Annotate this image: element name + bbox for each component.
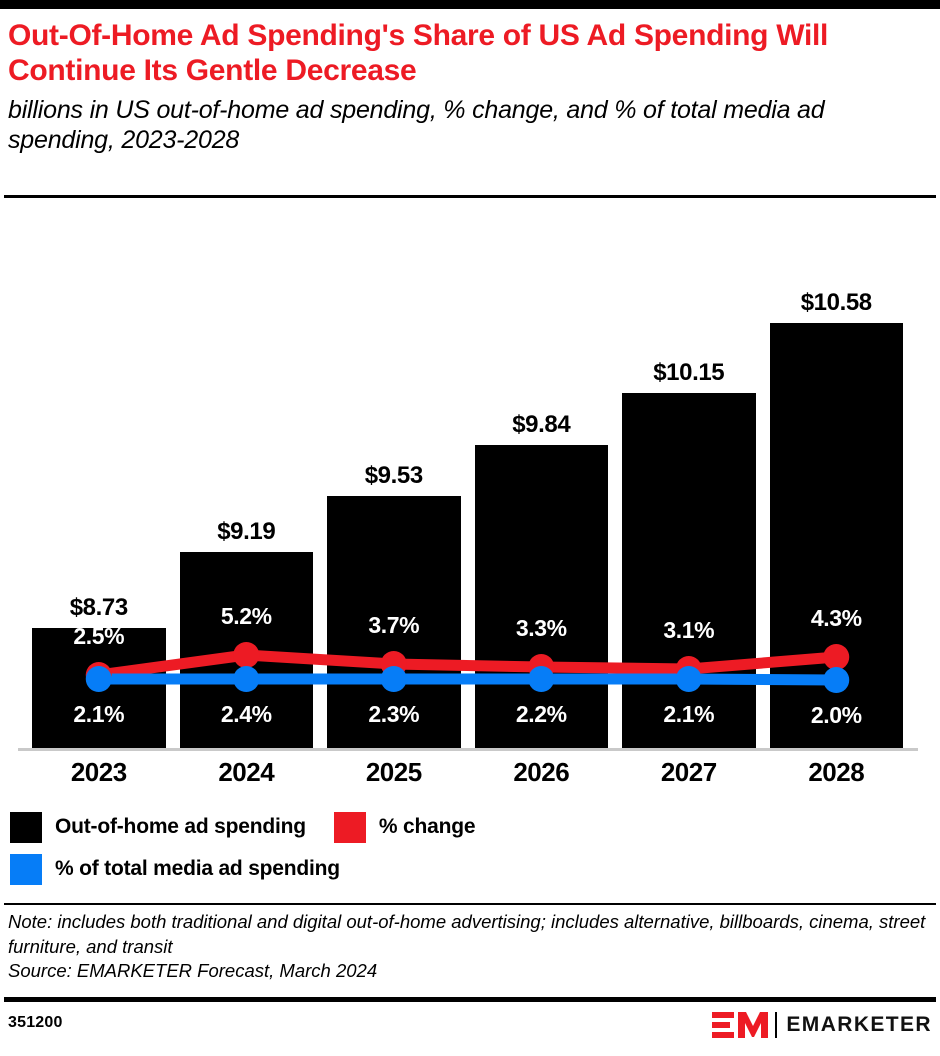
percent-change-line	[99, 655, 837, 675]
chart-footer: 351200 EMARKETER	[0, 1006, 940, 1052]
x-tick-2025: 2025	[327, 757, 461, 788]
chart-id: 351200	[8, 1014, 63, 1032]
chart-legend: Out-of-home ad spending % change % of to…	[10, 806, 930, 890]
em-logo-icon	[712, 1011, 768, 1039]
percent-of-total-point	[233, 666, 259, 692]
percent-of-total-label: 2.2%	[475, 701, 609, 728]
divider-above-footer	[4, 997, 936, 1002]
x-tick-2024: 2024	[180, 757, 314, 788]
x-tick-2026: 2026	[475, 757, 609, 788]
percent-of-total-point	[676, 666, 702, 692]
legend-row-1: Out-of-home ad spending % change	[10, 806, 930, 848]
percent-of-total-point	[381, 666, 407, 692]
divider-under-title	[4, 195, 936, 198]
page-title: Out-Of-Home Ad Spending's Share of US Ad…	[8, 18, 932, 89]
percent-of-total-point	[528, 666, 554, 692]
percent-of-total-label: 2.3%	[327, 701, 461, 728]
brand-name: EMARKETER	[786, 1013, 932, 1037]
legend-label: % of total media ad spending	[55, 857, 340, 881]
legend-label: Out-of-home ad spending	[55, 815, 306, 839]
percent-of-total-label: 2.1%	[32, 701, 166, 728]
percent-change-label: 3.1%	[622, 617, 756, 644]
x-tick-2028: 2028	[770, 757, 904, 788]
percent-change-label: 3.3%	[475, 615, 609, 642]
chart-notes: Note: includes both traditional and digi…	[8, 910, 932, 984]
divider-above-notes	[4, 903, 936, 905]
emarketer-brand: EMARKETER	[712, 1010, 932, 1040]
chart-plot-area: $8.73 $9.19 $9.53 $9.84 $10.15 $10.58 2.…	[0, 205, 940, 753]
legend-row-2: % of total media ad spending	[10, 848, 930, 890]
brand-divider	[775, 1012, 777, 1038]
page-subtitle: billions in US out-of-home ad spending, …	[8, 95, 932, 155]
top-rule	[0, 0, 940, 9]
legend-item-percent-of-total: % of total media ad spending	[10, 854, 340, 885]
note-text: Note: includes both traditional and digi…	[8, 910, 932, 959]
source-text: Source: EMARKETER Forecast, March 2024	[8, 959, 932, 984]
percent-of-total-point	[823, 667, 849, 693]
legend-label: % change	[379, 815, 475, 839]
percent-change-label: 2.5%	[32, 623, 166, 650]
percent-of-total-label: 2.0%	[770, 702, 904, 729]
legend-item-out-of-home: Out-of-home ad spending	[10, 812, 306, 843]
title-block: Out-Of-Home Ad Spending's Share of US Ad…	[8, 18, 932, 155]
x-tick-2023: 2023	[32, 757, 166, 788]
chart-page: Out-Of-Home Ad Spending's Share of US Ad…	[0, 0, 940, 1056]
percent-of-total-point	[86, 666, 112, 692]
x-axis-labels: 2023 2024 2025 2026 2027 2028	[0, 757, 940, 793]
percent-of-total-label: 2.1%	[622, 701, 756, 728]
percent-of-total-line	[99, 679, 837, 680]
line-series-layer	[0, 205, 940, 753]
legend-swatch-blue	[10, 854, 42, 885]
percent-change-label: 3.7%	[327, 612, 461, 639]
legend-swatch-red	[334, 812, 366, 843]
legend-swatch-black	[10, 812, 42, 843]
percent-change-point	[233, 642, 259, 668]
percent-of-total-label: 2.4%	[180, 701, 314, 728]
percent-change-label: 4.3%	[770, 605, 904, 632]
percent-change-point	[823, 644, 849, 670]
x-tick-2027: 2027	[622, 757, 756, 788]
percent-change-label: 5.2%	[180, 603, 314, 630]
legend-item-percent-change: % change	[334, 812, 475, 843]
